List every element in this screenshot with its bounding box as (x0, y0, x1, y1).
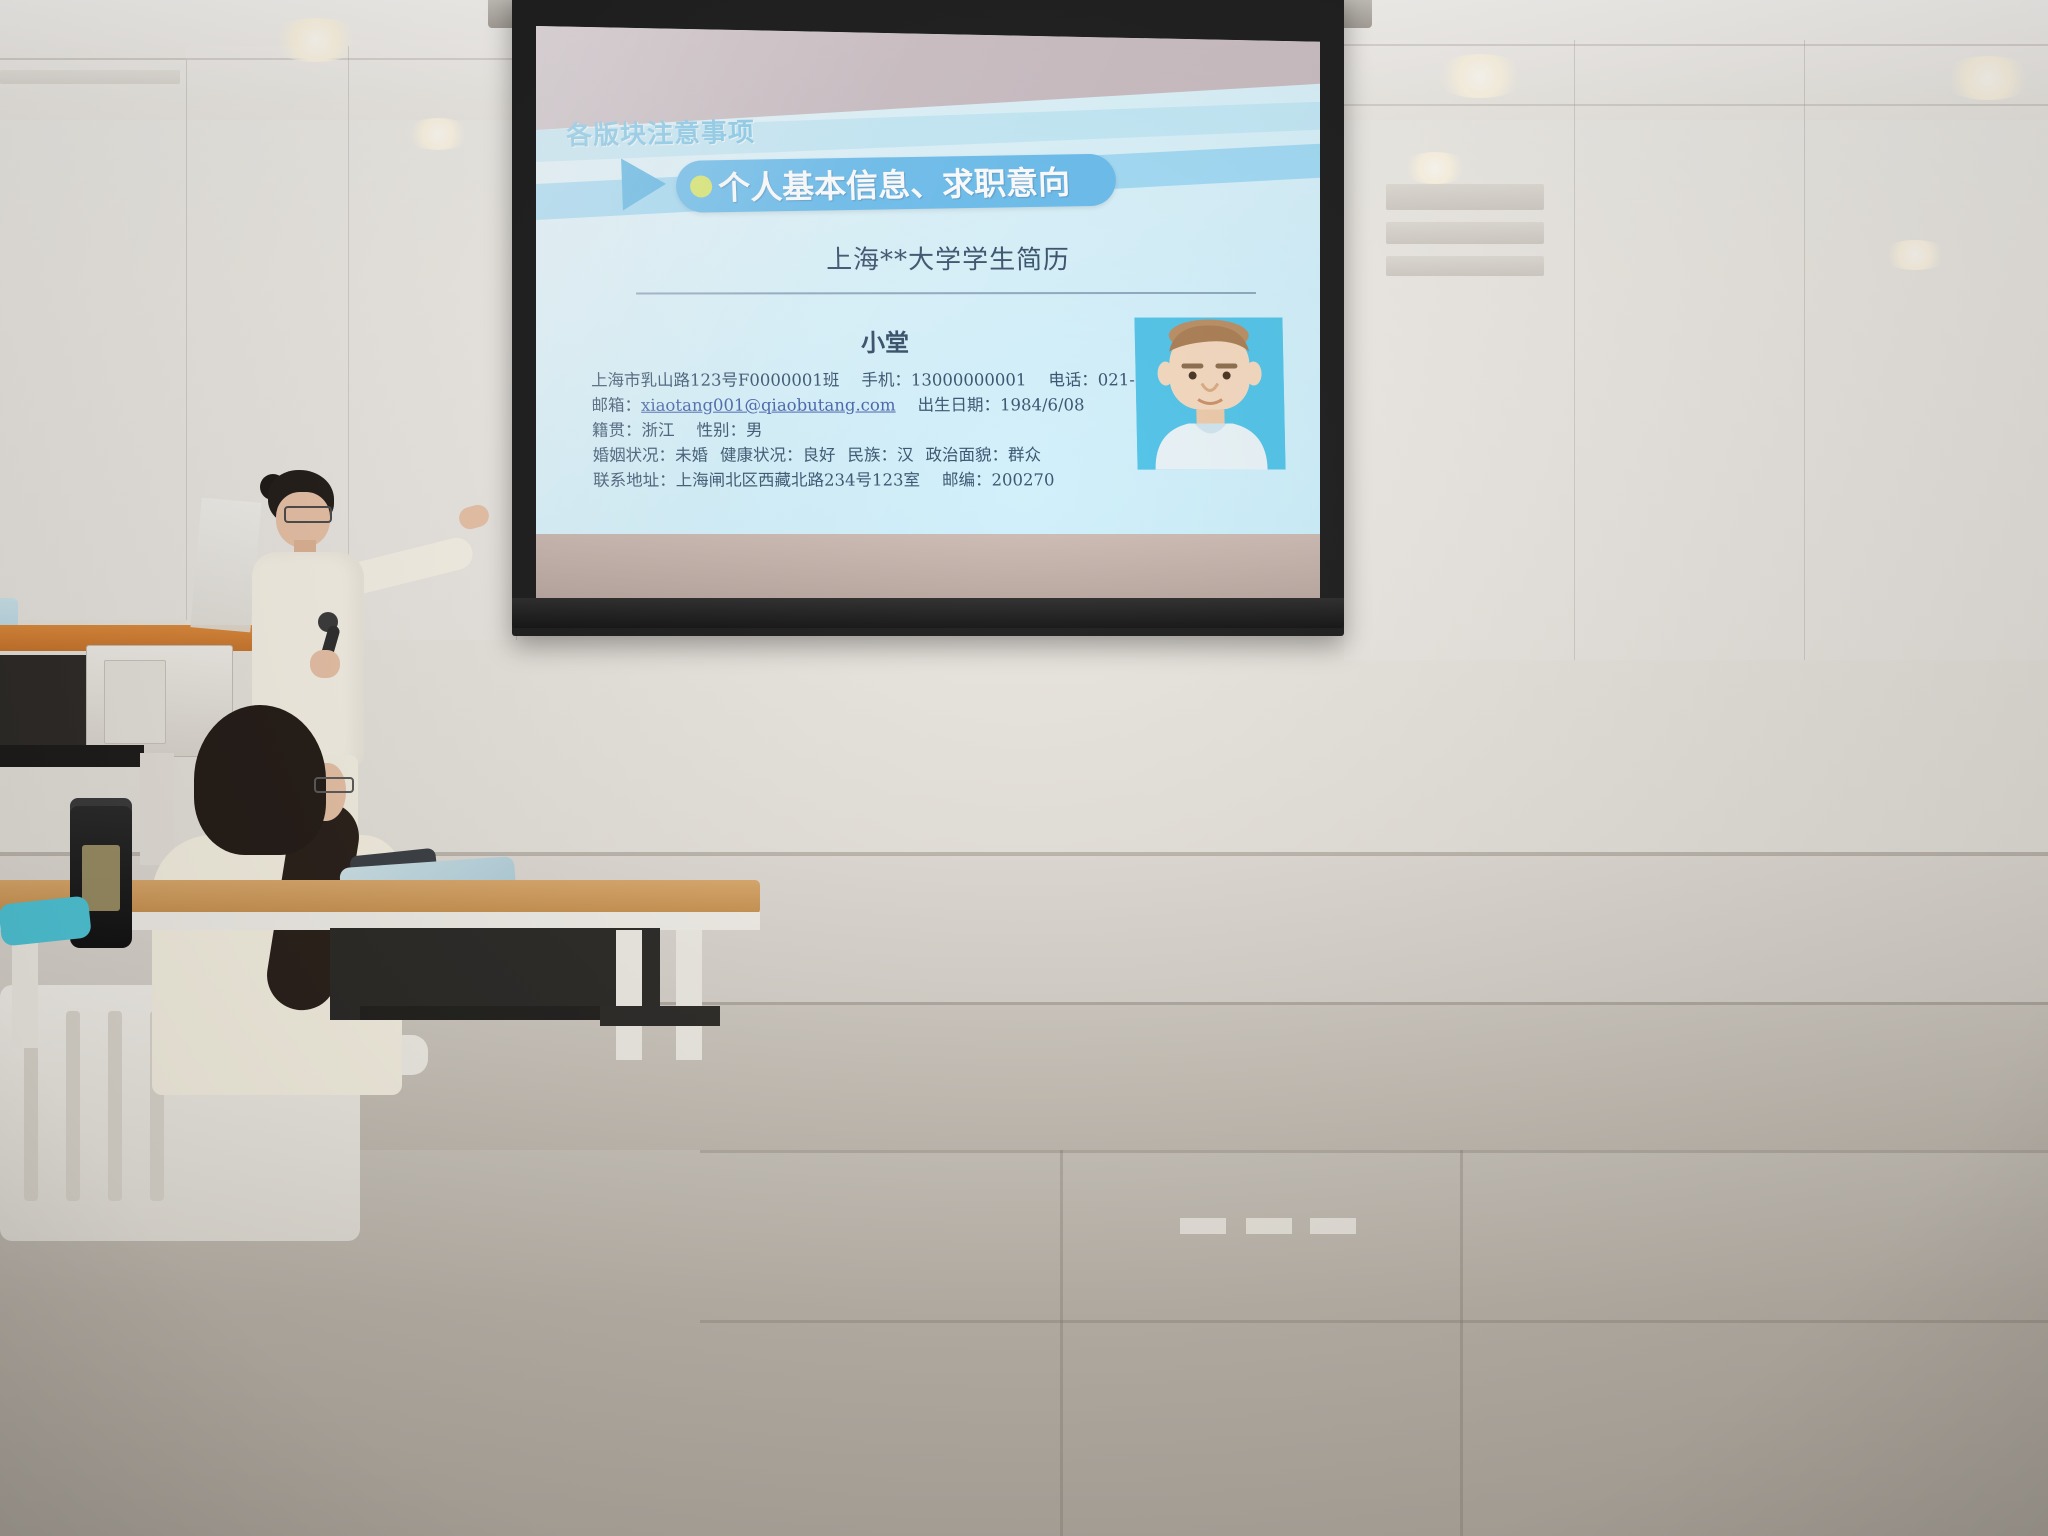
floor-seam (700, 1320, 2048, 1323)
floor-seam (1060, 1150, 1063, 1536)
detail-address-class: 上海市乳山路123号F0000001班 (591, 371, 840, 390)
detail-mobile-label: 手机： (861, 370, 911, 389)
detail-row-marital-health-ethnic-political: 婚姻状况：未婚健康状况：良好民族：汉政治面貌：群众 (592, 443, 1132, 469)
floor-seam (700, 1150, 2048, 1153)
wall-panel (1344, 40, 1575, 660)
resume-divider (636, 292, 1256, 295)
detail-health-label: 健康状况： (720, 446, 803, 465)
tumbler-label (82, 845, 120, 911)
detail-ethnicity-label: 民族： (847, 446, 897, 465)
screen-bottom-bar (512, 598, 1344, 628)
presenter-mic-hand (310, 650, 340, 678)
detail-marital-value: 未婚 (675, 446, 708, 465)
screen-lower-area (536, 534, 1320, 598)
detail-native-label: 籍贯： (592, 421, 642, 440)
detail-row-native-gender: 籍贯：浙江性别：男 (592, 417, 1132, 443)
chair-slat (108, 1011, 122, 1201)
slide-heading-pill: 个人基本信息、求职意向 (675, 154, 1117, 213)
detail-postcode-label: 邮编： (942, 471, 992, 490)
floor-seam (1460, 1150, 1463, 1536)
desk-leg (616, 930, 642, 1060)
slide-heading-text: 个人基本信息、求职意向 (717, 157, 1070, 209)
slide-kicker: 各版块注意事项 (565, 112, 755, 152)
floor-marker (1310, 1218, 1356, 1234)
detail-row-address-class: 上海市乳山路123号F0000001班手机：13000000001电话：021-… (591, 367, 1131, 393)
presenter-glasses (284, 506, 332, 523)
avatar-portrait-icon (1134, 317, 1285, 469)
detail-gender-label: 性别： (696, 421, 746, 440)
detail-marital-label: 婚姻状况： (592, 446, 675, 465)
detail-health-value: 良好 (802, 446, 835, 465)
detail-row-email-birth: 邮箱：xiaotang001@qiaobutang.com出生日期：1984/6… (591, 392, 1131, 418)
detail-postcode-value: 200270 (991, 471, 1054, 490)
detail-mobile-value: 13000000001 (911, 370, 1027, 389)
wall-panel (0, 60, 187, 620)
student-hair (194, 705, 326, 855)
wall-panel (1804, 40, 2048, 660)
detail-email-label: 邮箱： (591, 396, 641, 415)
projector-screen: 各版块注意事项 个人基本信息、求职意向 上海**大学学生简历 小堂 上海市乳山路… (512, 0, 1344, 636)
detail-gender-value: 男 (746, 421, 763, 440)
detail-telephone-label: 电话： (1048, 370, 1098, 389)
chair-slat (66, 1011, 80, 1201)
desk-foot (600, 1006, 720, 1026)
student-glasses (314, 777, 354, 793)
desk-leg (676, 930, 702, 1060)
detail-ethnicity-value: 汉 (897, 446, 914, 465)
presenter-pointing-hand (457, 502, 492, 531)
wall-panel (1574, 40, 1805, 660)
detail-birthdate-label: 出生日期： (917, 395, 1000, 414)
bullet-dot-icon (690, 175, 713, 197)
detail-political-value: 群众 (1008, 446, 1041, 465)
floor-marker (1180, 1218, 1226, 1234)
detail-row-contact-postcode: 联系地址：上海闸北区西藏北路234号123室邮编：200270 (593, 468, 1133, 494)
triangle-bullet-icon (621, 158, 667, 211)
screenshot-root: 各版块注意事项 个人基本信息、求职意向 上海**大学学生简历 小堂 上海市乳山路… (0, 0, 2048, 1536)
detail-native-value: 浙江 (641, 421, 674, 440)
resume-details: 上海市乳山路123号F0000001班手机：13000000001电话：021-… (591, 367, 1134, 493)
resume-title: 上海**大学学生简历 (826, 239, 1071, 276)
detail-email-value[interactable]: xiaotang001@qiaobutang.com (641, 396, 896, 415)
presentation-slide: 各版块注意事项 个人基本信息、求职意向 上海**大学学生简历 小堂 上海市乳山路… (536, 26, 1320, 550)
avatar (1134, 317, 1285, 469)
detail-contact-label: 联系地址： (593, 471, 676, 490)
resume-person-name: 小堂 (861, 323, 910, 358)
detail-political-label: 政治面貌： (925, 446, 1008, 465)
detail-birthdate-value: 1984/6/08 (1000, 395, 1085, 414)
podium-base (0, 745, 144, 767)
desk-leg (12, 938, 38, 1048)
detail-contact-value: 上海闸北区西藏北路234号123室 (675, 471, 920, 490)
floor-marker (1246, 1218, 1292, 1234)
